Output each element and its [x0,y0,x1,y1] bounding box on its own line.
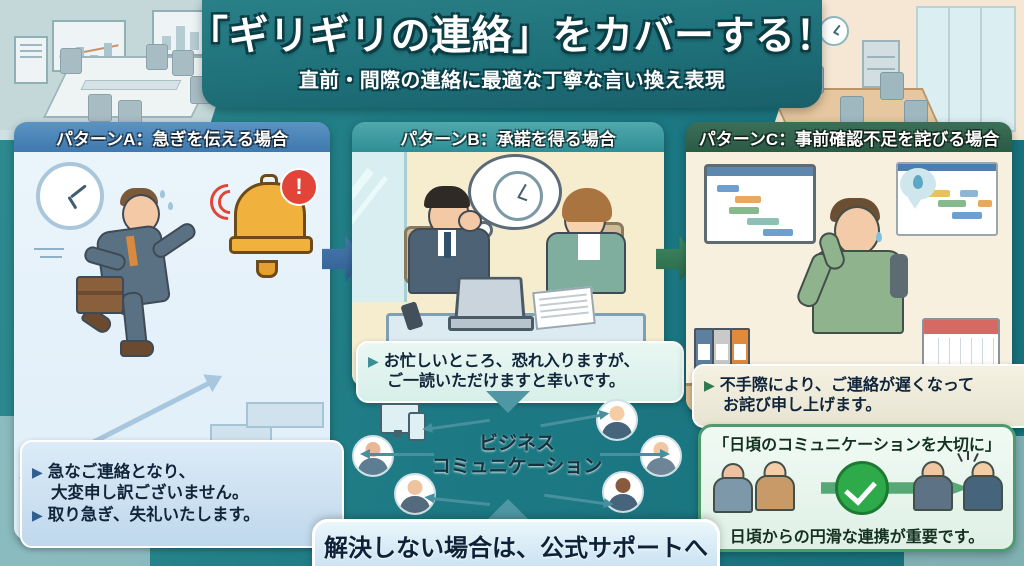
subbox-footer: 日頃からの円滑な連携が重要です。 [701,523,1013,547]
devices-icon [380,403,426,441]
panel-a-line-3: 取り急ぎ、失礼いたします。 [48,506,260,524]
panel-c-header: パターンC：事前確認不足を詫びる場合 [686,122,1012,152]
document-icon [532,286,596,330]
alert-bell: ! [220,170,316,256]
worried-worker [802,188,912,336]
bubble-clock-icon [493,171,543,221]
subbox-illustration [701,453,1013,521]
alert-badge-icon: ! [280,168,318,206]
running-businessman [76,184,202,364]
laptop-base [448,316,534,331]
gantt-chart-monitor [704,164,816,244]
panel-b-header-label: パターンB：承諾を得る場合 [400,125,615,150]
bullet-marker: ▶ [32,507,43,523]
panel-a-line-2: 大変申し訳ございません。 [51,484,249,502]
panel-a-caption: ▶急なご連絡となり、 大変申し訳ございません。 ▶取り急ぎ、失礼いたします。 [20,440,344,548]
avatar-handshake-left [911,459,955,513]
panel-b-caption-text: ▶お忙しいところ、恐れ入りますが、 ご一読いただけますと幸いです。 [368,352,639,393]
panel-c-subbox: 「日頃のコミュニケーションを大切に」 日頃からの円滑な連携が重要です。 [698,424,1016,552]
title-banner: 「ギリギリの連絡」をカバーする！ 直前・間際の連絡に最適な丁寧な言い換え表現 [202,0,822,108]
network-label-line1: ビジネス [432,432,603,455]
panel-b-header: パターンB：承諾を得る場合 [352,122,664,152]
panel-a-line-1: 急なご連絡となり、 [48,463,195,481]
title-subtitle: 直前・間際の連絡に最適な丁寧な言い換え表現 [299,64,725,93]
panel-a-header: パターンA：急ぎを伝える場合 [14,122,330,152]
window-graphic [352,152,407,302]
avatar-woman-left [352,435,394,477]
panel-a-header-label: パターンA：急ぎを伝える場合 [56,125,288,150]
title-main: 「ギリギリの連絡」をカバーする！ [188,15,836,57]
thought-bubble [468,154,562,230]
bullet-marker: ▶ [368,353,379,369]
network-label-line2: コミュニケーション [432,455,603,478]
bottom-banner: 解決しない場合は、公式サポートへ [312,519,720,566]
infographic-canvas: 「ギリギリの連絡」をカバーする！ 直前・間際の連絡に最適な丁寧な言い換え表現 パ… [0,0,1024,566]
briefcase-icon [76,276,124,314]
panel-b-line-2: ご一読いただけますと幸いです。 [387,373,625,390]
panel-c-line-1: 不手際により、ご連絡が遅くなって [720,377,974,394]
panel-c-caption-text: ▶不手際により、ご連絡が遅くなって お詫び申し上げます。 [704,376,974,417]
check-circle-icon [835,461,889,515]
avatar-speaker-2 [753,459,797,513]
communication-network-diagram: ビジネス コミュニケーション [352,395,682,515]
bullet-marker: ▶ [704,377,715,393]
avatar-handshake-right [961,459,1005,513]
avatar-speaker-1 [711,461,755,515]
panel-c-caption: ▶不手際により、ご連絡が遅くなって お詫び申し上げます。 [692,364,1024,428]
bottom-banner-text: 解決しない場合は、公式サポートへ [324,528,708,563]
panel-b-line-1: お忙しいところ、恐れ入りますが、 [384,353,640,370]
panel-a-caption-text: ▶急なご連絡となり、 大変申し訳ございません。 ▶取り急ぎ、失礼いたします。 [32,462,260,525]
panel-c-line-2: お詫び申し上げます。 [723,397,881,414]
bullet-marker: ▶ [32,464,43,480]
panel-c-header-label: パターンC：事前確認不足を詫びる場合 [699,125,999,150]
network-label: ビジネス コミュニケーション [432,432,603,478]
